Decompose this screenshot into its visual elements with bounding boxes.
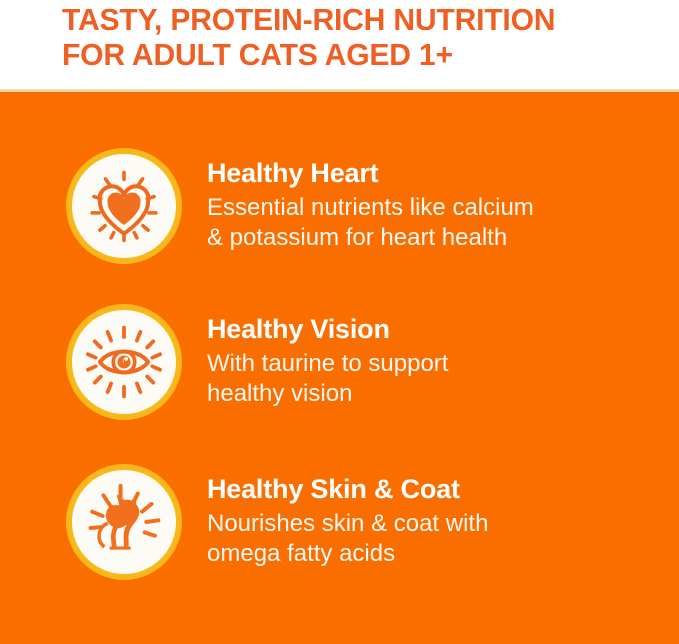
promo-poster: TASTY, PROTEIN-RICH NUTRITION FOR ADULT …	[0, 0, 679, 644]
feature-description-line-1: With taurine to support	[207, 349, 637, 379]
feature-copy: Healthy Skin & Coat Nourishes skin & coa…	[207, 464, 679, 569]
icon-badge	[66, 464, 182, 580]
feature-title: Healthy Heart	[207, 158, 679, 189]
header-banner: TASTY, PROTEIN-RICH NUTRITION FOR ADULT …	[0, 0, 679, 89]
heart-shine-icon	[66, 148, 182, 264]
eye-shine-icon	[66, 304, 182, 420]
feature-item-healthy-skin-and-coat: Healthy Skin & Coat Nourishes skin & coa…	[0, 464, 679, 580]
feature-title: Healthy Vision	[207, 314, 679, 345]
feature-description: Nourishes skin & coat with omega fatty a…	[207, 509, 637, 569]
feature-description-line-2: & potassium for heart health	[207, 223, 637, 253]
feature-title: Healthy Skin & Coat	[207, 474, 679, 505]
features-panel: Healthy Heart Essential nutrients like c…	[0, 92, 679, 644]
feature-description: With taurine to support healthy vision	[207, 349, 637, 409]
feature-item-healthy-heart: Healthy Heart Essential nutrients like c…	[0, 148, 679, 264]
feature-description-line-1: Essential nutrients like calcium	[207, 193, 637, 223]
feature-description-line-1: Nourishes skin & coat with	[207, 509, 637, 539]
icon-badge	[66, 148, 182, 264]
headline-line-1: TASTY, PROTEIN-RICH NUTRITION	[62, 2, 660, 37]
feature-copy: Healthy Heart Essential nutrients like c…	[207, 148, 679, 253]
feature-copy: Healthy Vision With taurine to support h…	[207, 304, 679, 409]
feature-description-line-2: omega fatty acids	[207, 539, 637, 569]
feature-description: Essential nutrients like calcium & potas…	[207, 193, 637, 253]
icon-badge	[66, 304, 182, 420]
cat-shine-icon	[66, 464, 182, 580]
feature-description-line-2: healthy vision	[207, 379, 637, 409]
feature-item-healthy-vision: Healthy Vision With taurine to support h…	[0, 304, 679, 420]
headline-line-2: FOR ADULT CATS AGED 1+	[62, 37, 660, 72]
